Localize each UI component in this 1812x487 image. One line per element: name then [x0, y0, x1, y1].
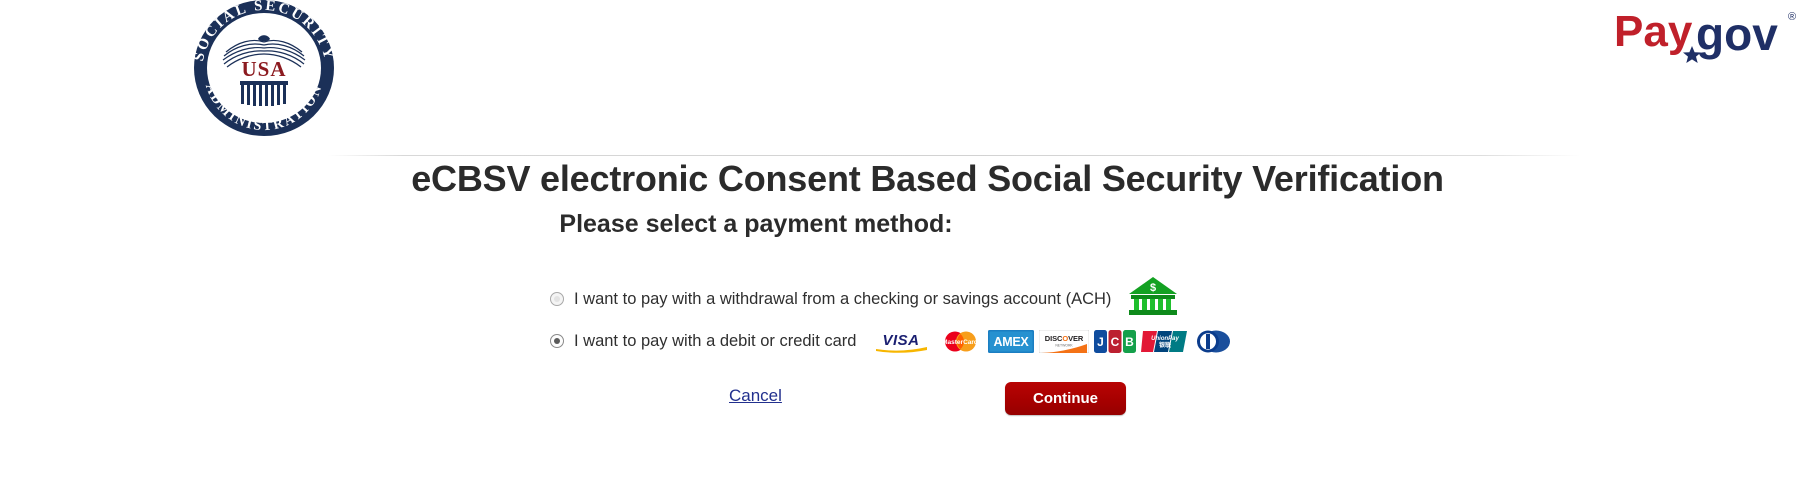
bank-ach-icon: $ — [1127, 275, 1179, 317]
payment-option-card-label: I want to pay with a debit or credit car… — [574, 332, 856, 351]
svg-text:USA: USA — [241, 57, 286, 81]
ssa-seal-logo: SOCIAL SECURITY ADMINISTRATION US — [180, 0, 348, 136]
discover-card-icon: DISCOVER NETWORK — [1039, 330, 1089, 353]
svg-text:银联: 银联 — [1159, 341, 1171, 349]
mastercard-card-icon: MasterCard — [937, 330, 983, 353]
payment-option-ach[interactable]: I want to pay with a withdrawal from a c… — [550, 278, 1270, 320]
svg-text:B: B — [1126, 335, 1135, 349]
paygov-logo: Pay gov ® — [1612, 2, 1802, 64]
radio-ach[interactable] — [550, 292, 564, 306]
svg-text:DISCOVER: DISCOVER — [1045, 334, 1084, 343]
svg-text:NETWORK: NETWORK — [1056, 343, 1074, 347]
svg-text:J: J — [1098, 335, 1105, 349]
payment-option-ach-label: I want to pay with a withdrawal from a c… — [574, 290, 1111, 309]
unionpay-card-icon: UnionPay 银联 — [1141, 330, 1189, 353]
svg-text:®: ® — [1788, 11, 1796, 23]
form-actions: Cancel Continue — [0, 382, 1812, 428]
svg-text:C: C — [1111, 335, 1120, 349]
svg-text:VISA: VISA — [883, 332, 920, 349]
jcb-card-icon: J C B — [1094, 330, 1136, 353]
header-divider — [328, 155, 1581, 156]
svg-text:AMEX: AMEX — [994, 335, 1030, 349]
svg-text:Pay: Pay — [1614, 7, 1693, 56]
accepted-card-brands: VISA MasterCard — [870, 330, 1232, 353]
cancel-link[interactable]: Cancel — [729, 386, 782, 406]
amex-card-icon: AMEX — [988, 330, 1034, 353]
diners-club-card-icon — [1194, 330, 1232, 353]
radio-card[interactable] — [550, 334, 564, 348]
visa-card-icon: VISA — [870, 330, 932, 353]
page-title: eCBSV electronic Consent Based Social Se… — [0, 158, 1812, 200]
svg-text:MasterCard: MasterCard — [943, 339, 979, 346]
page-subtitle: Please select a payment method: — [0, 210, 1512, 239]
payment-method-options: I want to pay with a withdrawal from a c… — [550, 278, 1270, 362]
page-header: SOCIAL SECURITY ADMINISTRATION US — [0, 0, 1812, 136]
svg-text:UnionPay: UnionPay — [1152, 336, 1180, 342]
continue-button[interactable]: Continue — [1005, 382, 1126, 415]
payment-option-card[interactable]: I want to pay with a debit or credit car… — [550, 320, 1270, 362]
svg-text:gov: gov — [1696, 8, 1778, 60]
svg-text:$: $ — [1150, 282, 1156, 294]
